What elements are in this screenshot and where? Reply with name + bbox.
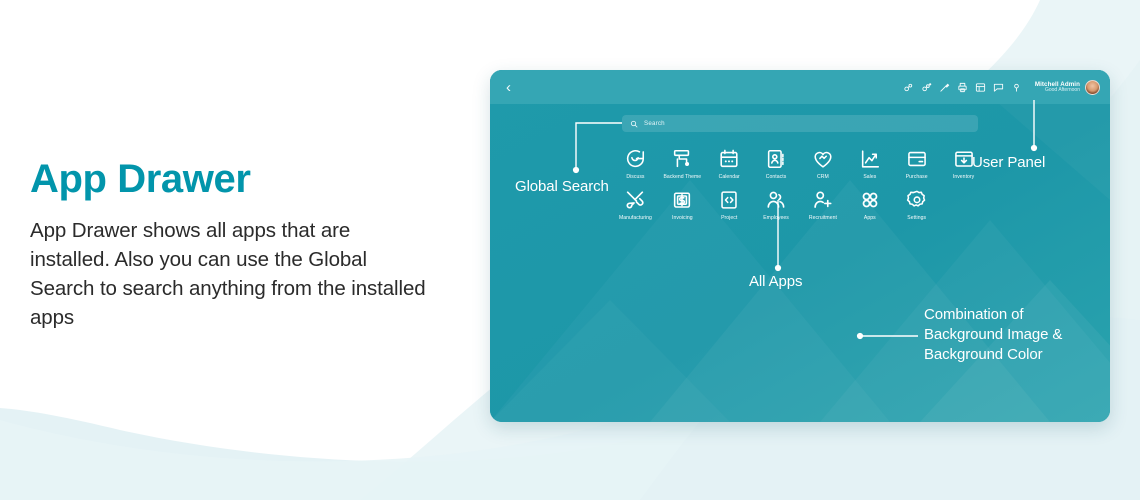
callout-user-panel: User Panel [972,154,1045,173]
app-tile-recruitment[interactable]: Recruitment [800,189,847,221]
app-label: Project [721,215,737,221]
invoicing-icon [671,189,693,211]
page-title: App Drawer [30,158,430,200]
callout-all-apps: All Apps [749,273,802,292]
app-label: Invoicing [672,215,693,221]
crm-icon [812,148,834,170]
app-tile-sales[interactable]: Sales [846,148,893,180]
app-tile-discuss[interactable]: Discuss [612,148,659,180]
contacts-icon [765,148,787,170]
sales-icon [859,148,881,170]
settings-icon [906,189,928,211]
bug-icon[interactable] [903,82,914,93]
app-label: CRM [817,174,829,180]
app-label: Manufacturing [619,215,652,221]
user-greeting: Good Afternoon [1035,88,1080,94]
page-description: App Drawer shows all apps that are insta… [30,216,430,332]
app-tile-apps[interactable]: Apps [846,189,893,221]
app-label: Purchase [906,174,928,180]
activities-icon[interactable] [1011,82,1022,93]
app-label: Apps [864,215,876,221]
search-icon [630,120,638,128]
app-drawer-panel: ‹ [490,70,1110,422]
app-tile-calendar[interactable]: Calendar [706,148,753,180]
backend-theme-icon [671,148,693,170]
purchase-icon [906,148,928,170]
discuss-icon [624,148,646,170]
bug-badge-icon[interactable] [921,82,932,93]
app-label: Recruitment [809,215,837,221]
app-label: Sales [863,174,876,180]
page-root: App Drawer App Drawer shows all apps tha… [0,0,1140,500]
topbar-icon-row: Mitchell Admin Good Afternoon [903,80,1100,95]
panel-top-bar: ‹ [490,70,1110,104]
search-input[interactable]: Search [622,115,978,132]
app-tile-backend-theme[interactable]: Backend Theme [659,148,706,180]
app-label: Calendar [719,174,740,180]
calendar-icon [718,148,740,170]
app-tile-employees[interactable]: Employees [753,189,800,221]
search-placeholder: Search [644,120,665,127]
wand-icon[interactable] [939,82,950,93]
apps-icon [859,189,881,211]
app-label: Backend Theme [663,174,701,180]
app-tile-purchase[interactable]: Purchase [893,148,940,180]
left-text-block: App Drawer App Drawer shows all apps tha… [30,158,430,332]
recruitment-icon [812,189,834,211]
app-label: Inventory [953,174,974,180]
callout-global-search: Global Search [515,178,609,197]
app-tile-manufacturing[interactable]: Manufacturing [612,189,659,221]
app-label: Discuss [626,174,644,180]
app-tile-invoicing[interactable]: Invoicing [659,189,706,221]
print-icon[interactable] [957,82,968,93]
app-grid: Discuss Backend Theme [612,148,987,221]
app-label: Contacts [766,174,787,180]
manufacturing-icon [624,189,646,211]
app-tile-crm[interactable]: CRM [800,148,847,180]
messages-icon[interactable] [993,82,1004,93]
callout-background-combination: Combination of Background Image & Backgr… [924,305,1062,365]
project-icon [718,189,740,211]
user-names: Mitchell Admin Good Afternoon [1035,81,1080,94]
avatar[interactable] [1085,80,1100,95]
user-panel[interactable]: Mitchell Admin Good Afternoon [1035,80,1100,95]
employees-icon [765,189,787,211]
app-tile-contacts[interactable]: Contacts [753,148,800,180]
app-tile-project[interactable]: Project [706,189,753,221]
grid-icon[interactable] [975,82,986,93]
chevron-left-icon[interactable]: ‹ [506,80,511,95]
app-label: Employees [763,215,789,221]
app-label: Settings [907,215,926,221]
app-tile-settings[interactable]: Settings [893,189,940,221]
